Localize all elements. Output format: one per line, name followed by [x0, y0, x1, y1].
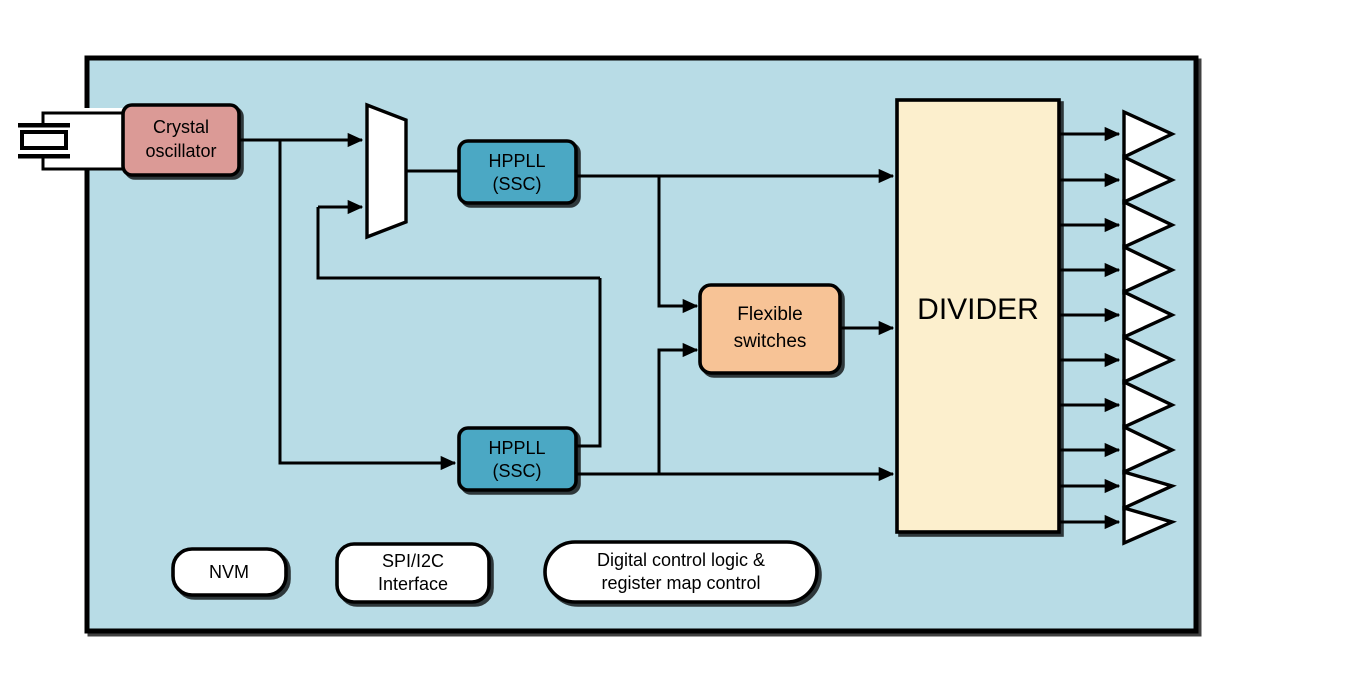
crystal-icon — [0, 108, 125, 170]
flexible-switches-block[interactable] — [700, 285, 840, 373]
crystal-oscillator-label-line2: oscillator — [145, 141, 216, 161]
hppll-bottom-label-line2: (SSC) — [493, 461, 542, 481]
hppll-bottom-label-line1: HPPLL — [488, 438, 545, 458]
hppll-top-label-line2: (SSC) — [493, 174, 542, 194]
divider-label: DIVIDER — [917, 293, 1039, 326]
crystal-oscillator-label-line1: Crystal — [153, 117, 209, 137]
spi-i2c-label-line2: Interface — [378, 574, 448, 594]
spi-i2c-label-line1: SPI/I2C — [382, 551, 444, 571]
block-diagram-root: Crystal oscillator HPPLL (SSC) HPPLL — [0, 0, 1355, 685]
flexible-switches-label-line2: switches — [734, 331, 807, 352]
digital-control-logic-label-line2: register map control — [601, 573, 760, 593]
nvm-label: NVM — [209, 562, 249, 582]
hppll-top-label-line1: HPPLL — [488, 151, 545, 171]
digital-control-logic-label-line1: Digital control logic & — [597, 550, 765, 570]
mux-block[interactable] — [367, 105, 406, 237]
flexible-switches-label-line1: Flexible — [737, 304, 802, 325]
clock-generator-diagram: Crystal oscillator HPPLL (SSC) HPPLL — [0, 0, 1355, 685]
